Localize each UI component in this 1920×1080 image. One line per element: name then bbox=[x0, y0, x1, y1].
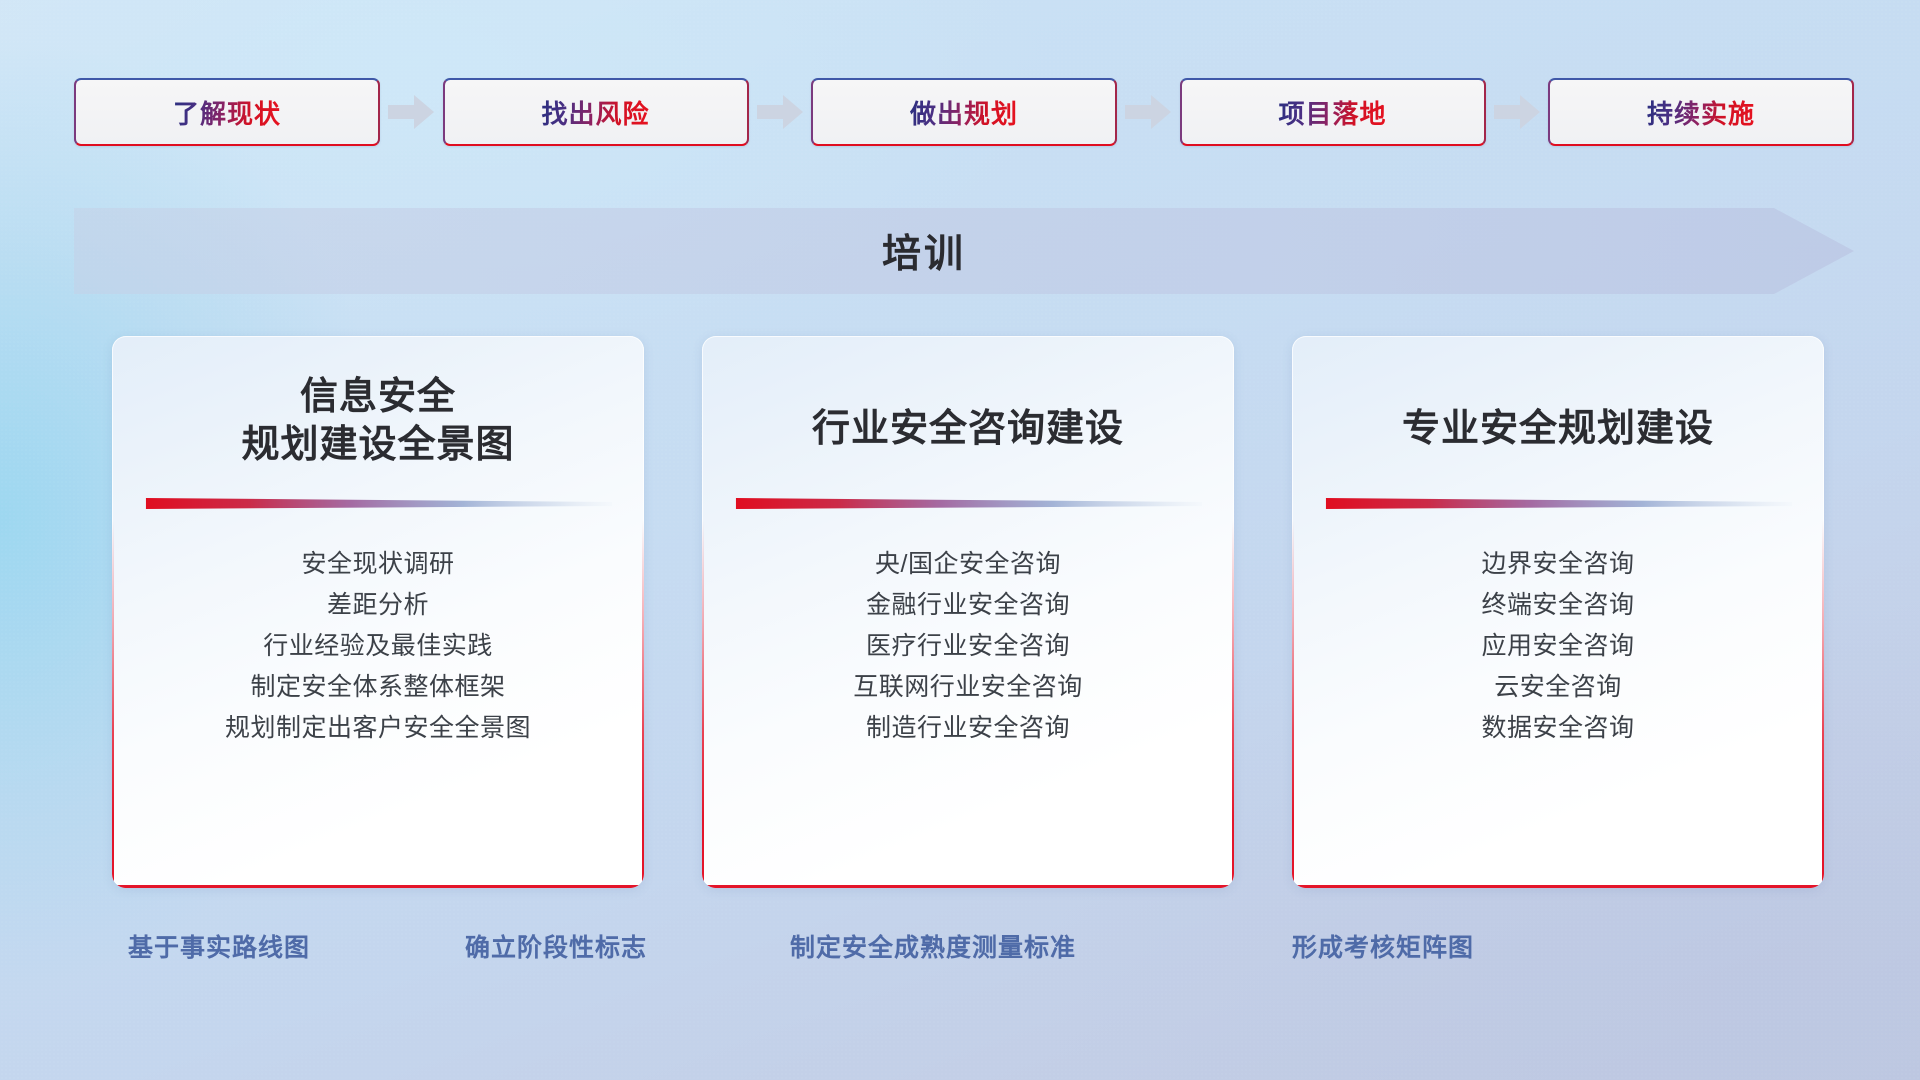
list-item: 差距分析 bbox=[138, 585, 618, 626]
arrow-right-icon bbox=[1486, 92, 1549, 132]
card-1-divider bbox=[144, 496, 612, 522]
list-item: 规划制定出客户安全全景图 bbox=[138, 708, 618, 749]
training-banner: 培训 bbox=[74, 208, 1854, 294]
process-step-2[interactable]: 找出风险 bbox=[443, 78, 749, 146]
list-item: 终端安全咨询 bbox=[1318, 585, 1798, 626]
process-step-3-label: 做出规划 bbox=[910, 94, 1018, 131]
arrow-right-icon bbox=[380, 92, 443, 132]
card-2-divider bbox=[734, 496, 1202, 522]
arrow-right-icon bbox=[749, 92, 812, 132]
process-step-1[interactable]: 了解现状 bbox=[74, 78, 380, 146]
service-cards: 信息安全 规划建设全景图 bbox=[112, 336, 1826, 888]
training-banner-label: 培训 bbox=[74, 208, 1774, 294]
footer-label-3: 制定安全成熟度测量标准 bbox=[790, 928, 1076, 964]
process-step-5[interactable]: 持续实施 bbox=[1548, 78, 1854, 146]
process-step-3[interactable]: 做出规划 bbox=[811, 78, 1117, 146]
card-2-items: 央/国企安全咨询 金融行业安全咨询 医疗行业安全咨询 互联网行业安全咨询 制造行… bbox=[728, 544, 1208, 749]
process-step-4[interactable]: 项目落地 bbox=[1180, 78, 1486, 146]
list-item: 行业经验及最佳实践 bbox=[138, 626, 618, 667]
list-item: 数据安全咨询 bbox=[1318, 708, 1798, 749]
process-step-5-label: 持续实施 bbox=[1647, 94, 1755, 131]
footer-outcome-labels: 基于事实路线图 确立阶段性标志 制定安全成熟度测量标准 形成考核矩阵图 bbox=[0, 928, 1920, 974]
card-industry-security-consulting[interactable]: 行业安全咨询建设 bbox=[702, 336, 1234, 888]
card-professional-security-planning[interactable]: 专业安全规划建设 bbox=[1292, 336, 1824, 888]
card-information-security-blueprint[interactable]: 信息安全 规划建设全景图 bbox=[112, 336, 644, 888]
list-item: 医疗行业安全咨询 bbox=[728, 626, 1208, 667]
list-item: 金融行业安全咨询 bbox=[728, 585, 1208, 626]
arrow-right-icon bbox=[1117, 92, 1180, 132]
list-item: 央/国企安全咨询 bbox=[728, 544, 1208, 585]
list-item: 应用安全咨询 bbox=[1318, 626, 1798, 667]
footer-label-2: 确立阶段性标志 bbox=[465, 928, 647, 964]
process-step-1-label: 了解现状 bbox=[173, 94, 281, 131]
card-1-title: 信息安全 规划建设全景图 bbox=[138, 370, 618, 470]
process-steps-strip: 了解现状 找出风险 做出规划 项目落地 bbox=[74, 78, 1854, 146]
list-item: 制造行业安全咨询 bbox=[728, 708, 1208, 749]
list-item: 云安全咨询 bbox=[1318, 667, 1798, 708]
card-3-items: 边界安全咨询 终端安全咨询 应用安全咨询 云安全咨询 数据安全咨询 bbox=[1318, 544, 1798, 749]
card-3-title: 专业安全规划建设 bbox=[1318, 370, 1798, 470]
card-1-items: 安全现状调研 差距分析 行业经验及最佳实践 制定安全体系整体框架 规划制定出客户… bbox=[138, 544, 618, 749]
process-step-4-label: 项目落地 bbox=[1278, 94, 1386, 131]
footer-label-1: 基于事实路线图 bbox=[128, 928, 310, 964]
process-step-2-label: 找出风险 bbox=[541, 94, 649, 131]
list-item: 安全现状调研 bbox=[138, 544, 618, 585]
footer-label-4: 形成考核矩阵图 bbox=[1292, 928, 1474, 964]
list-item: 互联网行业安全咨询 bbox=[728, 667, 1208, 708]
slide-canvas: 了解现状 找出风险 做出规划 项目落地 bbox=[0, 0, 1920, 1080]
card-3-divider bbox=[1324, 496, 1792, 522]
list-item: 制定安全体系整体框架 bbox=[138, 667, 618, 708]
list-item: 边界安全咨询 bbox=[1318, 544, 1798, 585]
card-2-title: 行业安全咨询建设 bbox=[728, 370, 1208, 470]
